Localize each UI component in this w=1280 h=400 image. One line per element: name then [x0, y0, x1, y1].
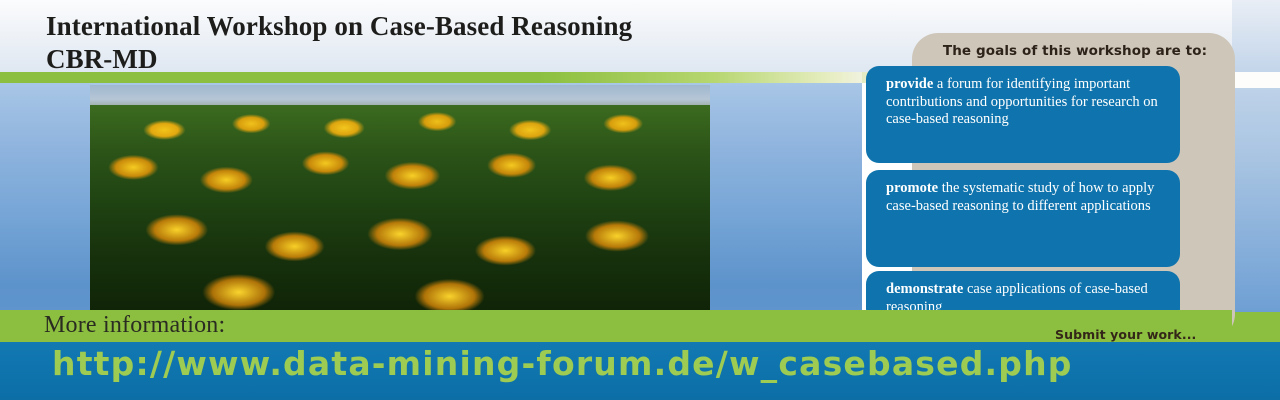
workshop-url-link[interactable]: http://www.data-mining-forum.de/w_caseba…: [52, 344, 1073, 383]
title-line-1: International Workshop on Case-Based Rea…: [46, 10, 846, 43]
goal-lead-demonstrate: demonstrate: [886, 281, 963, 297]
goal-text-provide: provide a forum for identifying importan…: [886, 76, 1164, 129]
page-title: International Workshop on Case-Based Rea…: [46, 10, 846, 76]
photo-sunflower-region: [90, 105, 710, 313]
goal-item-promote: promote the systematic study of how to a…: [866, 170, 1180, 267]
right-edge-green-strip: [1232, 312, 1280, 342]
right-edge-white-strip: [1232, 72, 1280, 88]
submit-your-work-note: Submit your work...: [1055, 327, 1196, 342]
goal-text-promote: promote the systematic study of how to a…: [886, 180, 1164, 215]
more-information-label: More information:: [44, 312, 225, 339]
title-line-2: CBR-MD: [46, 43, 846, 76]
goals-heading: The goals of this workshop are to:: [920, 43, 1230, 59]
goal-item-provide: provide a forum for identifying importan…: [866, 66, 1180, 163]
goal-lead-promote: promote: [886, 180, 938, 196]
conference-poster: International Workshop on Case-Based Rea…: [0, 0, 1280, 400]
sunflower-field-photo: [90, 85, 710, 313]
goal-lead-provide: provide: [886, 76, 933, 92]
